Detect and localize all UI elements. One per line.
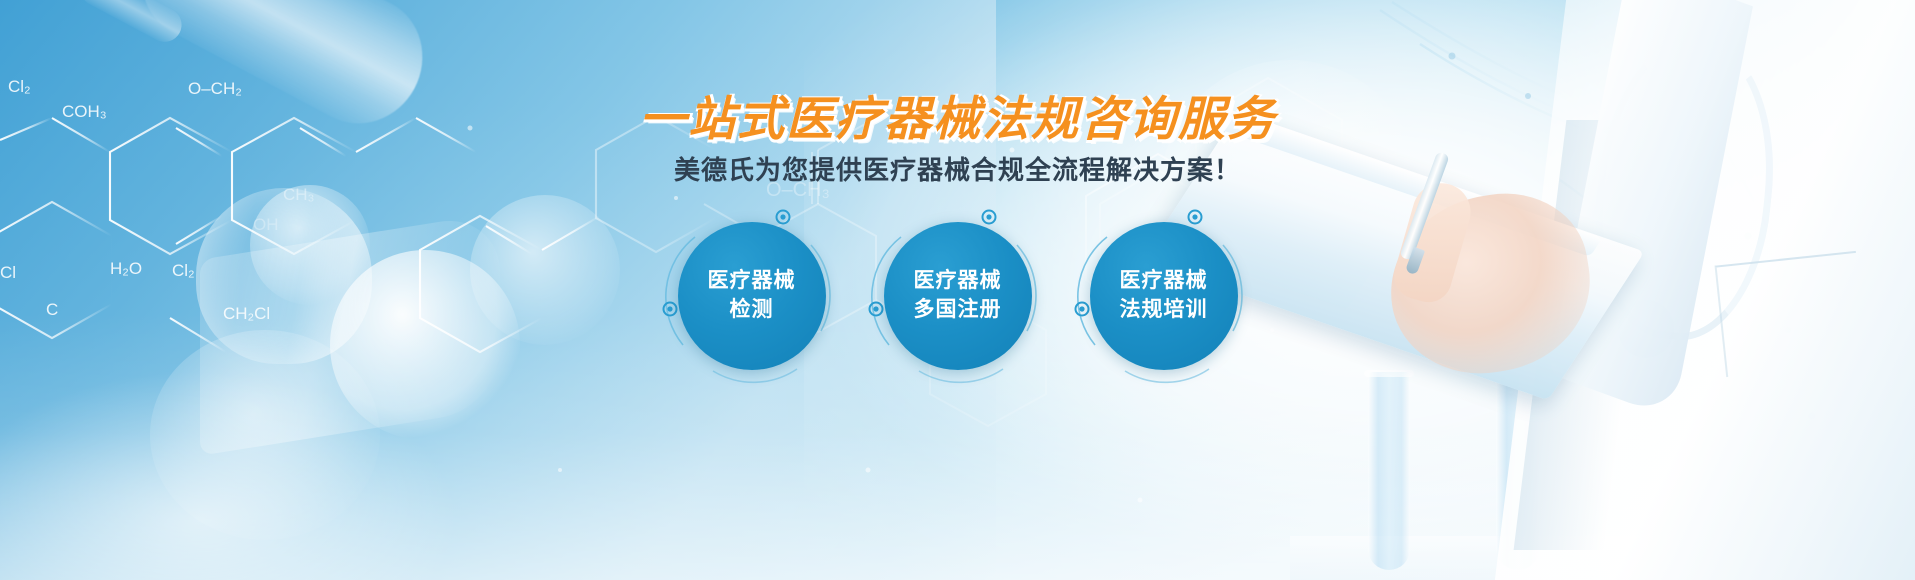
circle-label-line2: 检测	[730, 296, 774, 325]
circle-label-line2: 法规培训	[1120, 296, 1208, 325]
page-title: 一站式医疗器械法规咨询服务	[0, 95, 1915, 142]
circle-label-line1: 医疗器械	[708, 267, 796, 296]
hero-banner: Cl₂ COH₃ O–CH₂ H₂O Cl₂ CH₂Cl C Cl CH₃ OH…	[0, 0, 1915, 580]
molecule-label: CH₃	[283, 185, 314, 204]
service-circle-multi-country-registration[interactable]: 医疗器械 多国注册	[884, 222, 1032, 370]
test-tube-left	[1368, 372, 1410, 570]
test-tube-left-rim	[1364, 370, 1414, 377]
service-circle-1-wrapper: 医疗器械 检测	[678, 222, 826, 370]
service-circle-group: 医疗器械 检测 医疗器械 多国注册	[0, 222, 1915, 370]
circle-label-line1: 医疗器械	[914, 267, 1002, 296]
service-circle-3-wrapper: 医疗器械 法规培训	[1090, 222, 1238, 370]
circle-label-line1: 医疗器械	[1120, 267, 1208, 296]
test-tube-right	[1496, 370, 1540, 570]
service-circle-medical-device-testing[interactable]: 医疗器械 检测	[678, 222, 826, 370]
service-circle-regulatory-training[interactable]: 医疗器械 法规培训	[1090, 222, 1238, 370]
circle-label-line2: 多国注册	[914, 296, 1002, 325]
molecule-label: Cl₂	[8, 77, 31, 96]
service-circle-2-wrapper: 医疗器械 多国注册	[884, 222, 1032, 370]
page-subtitle: 美德氏为您提供医疗器械合规全流程解决方案！	[0, 157, 1915, 183]
